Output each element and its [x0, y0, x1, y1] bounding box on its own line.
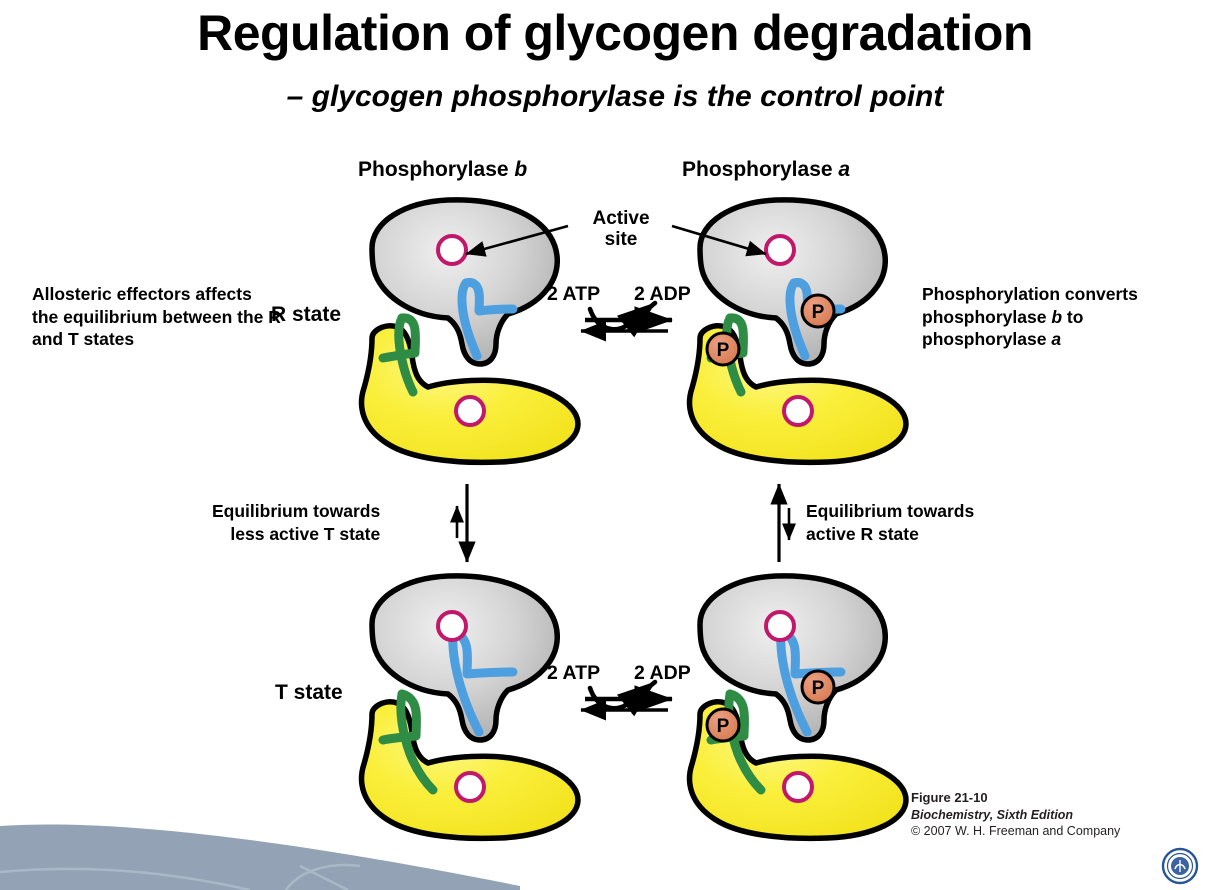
annotation-right-line2-post: to: [1062, 307, 1083, 327]
phosphate-letter: P: [717, 716, 730, 737]
figure-credit-number: Figure 21-10: [911, 790, 1120, 807]
upper-lobe-gray: [700, 576, 885, 740]
green-tail-blocking: [401, 694, 433, 790]
active-site-label: Active site: [573, 209, 669, 250]
footer-line-1: [0, 869, 250, 890]
green-tail-hook: [383, 318, 415, 358]
annotation-phosphorylation-converts: Phosphorylation converts phosphorylase b…: [922, 283, 1192, 351]
annotation-allosteric-effectors: Allosteric effectors affects the equilib…: [32, 283, 282, 351]
active-site-circle-upper: [438, 612, 466, 640]
lower-lobe-yellow: [362, 326, 578, 463]
phosphate-letter: P: [812, 302, 825, 323]
footer-decoration: [0, 824, 520, 890]
green-tail-hook: [711, 318, 743, 358]
adp-label-bottom: 2 ADP: [634, 662, 691, 685]
column-header-phosphorylase-b: Phosphorylase b: [358, 158, 527, 182]
phosphate-icon-upper: [802, 671, 834, 703]
active-site-label-line1: Active: [592, 208, 649, 229]
active-site-circle-lower: [784, 773, 812, 801]
equilibrium-right-line2: active R state: [806, 524, 919, 544]
university-seal-logo: [1163, 849, 1197, 883]
page-title: Regulation of glycogen degradation: [0, 4, 1230, 62]
green-tail-hook: [711, 694, 744, 740]
column-header-a-text: Phosphorylase: [682, 158, 838, 181]
r-state-label: R state: [271, 303, 341, 327]
figure-credit-source: Biochemistry, Sixth Edition: [911, 807, 1120, 823]
annotation-right-line2-italic: b: [1051, 307, 1062, 327]
green-tail: [727, 318, 741, 392]
active-site-circle-lower: [456, 397, 484, 425]
curved-transfer-arrow: [590, 303, 655, 329]
phosphate-icon-upper: [802, 295, 834, 327]
annotation-right-line3-italic: a: [1051, 329, 1061, 349]
column-header-b-text: Phosphorylase: [358, 158, 514, 181]
blue-tail-blocking: [453, 632, 479, 732]
molecule-phosphorylase-a-t-state: [690, 576, 906, 839]
footer-swoosh: [0, 824, 520, 890]
blue-tail: [790, 283, 805, 356]
adp-label-top: 2 ADP: [634, 283, 691, 306]
t-state-label: T state: [275, 681, 343, 705]
equilibrium-right-line1: Equilibrium towards: [806, 501, 974, 521]
active-site-leader-left: [466, 226, 568, 254]
lower-lobe-yellow: [690, 326, 906, 463]
blue-tail-hook: [453, 632, 513, 674]
atp-label-top: 2 ATP: [547, 283, 600, 306]
equilibrium-caption-right: Equilibrium towards active R state: [806, 500, 974, 546]
green-tail-blocking: [729, 694, 761, 790]
figure-credit: Figure 21-10 Biochemistry, Sixth Edition…: [911, 790, 1120, 839]
seal-inner-ring: [1168, 854, 1193, 879]
active-site-circle-lower: [784, 397, 812, 425]
molecule-phosphorylase-a-r-state: [690, 200, 906, 463]
reaction-arrows-bottom: [581, 682, 672, 710]
lower-lobe-yellow: [362, 702, 578, 839]
annotation-right-line3-pre: phosphorylase: [922, 329, 1051, 349]
figure-credit-copyright: © 2007 W. H. Freeman and Company: [911, 823, 1120, 839]
active-site-label-line2: site: [605, 229, 638, 250]
phosphate-letter: P: [717, 340, 730, 361]
equilibrium-arrows-left: [457, 484, 467, 562]
upper-lobe-gray: [372, 576, 557, 740]
diagram-svg: P P P P: [0, 0, 1230, 890]
blue-tail-hook: [781, 632, 841, 674]
equilibrium-caption-left: Equilibrium towards less active T state: [212, 500, 380, 546]
reaction-arrows-top: [581, 303, 672, 331]
equilibrium-arrows-right: [779, 484, 789, 562]
active-site-circle-upper: [766, 236, 794, 264]
green-tail: [399, 318, 413, 392]
seal-emblem: [1175, 865, 1185, 870]
molecule-phosphorylase-b-t-state: [362, 576, 578, 839]
phosphate-icon-lower: [707, 709, 739, 741]
green-tail-hook: [383, 694, 416, 740]
equilibrium-left-line2: less active T state: [230, 524, 380, 544]
footer-line-2: [286, 865, 360, 890]
page-subtitle: – glycogen phosphorylase is the control …: [0, 80, 1230, 114]
seal-center: [1171, 857, 1189, 875]
column-header-a-italic: a: [838, 158, 850, 181]
slide-canvas: Regulation of glycogen degradation – gly…: [0, 0, 1230, 890]
phosphate-icon-lower: [707, 333, 739, 365]
curved-transfer-arrow: [590, 682, 655, 708]
active-site-leader-right: [672, 226, 766, 254]
blue-tail-hook: [794, 282, 841, 311]
lower-lobe-yellow: [690, 702, 906, 839]
active-site-circle-lower: [456, 773, 484, 801]
blue-tail-hook: [466, 282, 513, 311]
upper-lobe-gray: [372, 200, 557, 364]
footer-line-3: [300, 866, 348, 890]
column-header-phosphorylase-a: Phosphorylase a: [682, 158, 850, 182]
active-site-circle-upper: [766, 612, 794, 640]
annotation-right-line1: Phosphorylation converts: [922, 284, 1138, 304]
active-site-circle-upper: [438, 236, 466, 264]
annotation-right-line2-pre: phosphorylase: [922, 307, 1051, 327]
upper-lobe-gray: [700, 200, 885, 364]
blue-tail: [462, 283, 477, 356]
phosphate-letter: P: [812, 678, 825, 699]
equilibrium-left-line1: Equilibrium towards: [212, 501, 380, 521]
column-header-b-italic: b: [514, 158, 527, 181]
seal-outer-ring: [1163, 849, 1197, 883]
blue-tail-blocking: [781, 632, 807, 732]
molecule-phosphorylase-b-r-state: [362, 200, 578, 463]
atp-label-bottom: 2 ATP: [547, 662, 600, 685]
